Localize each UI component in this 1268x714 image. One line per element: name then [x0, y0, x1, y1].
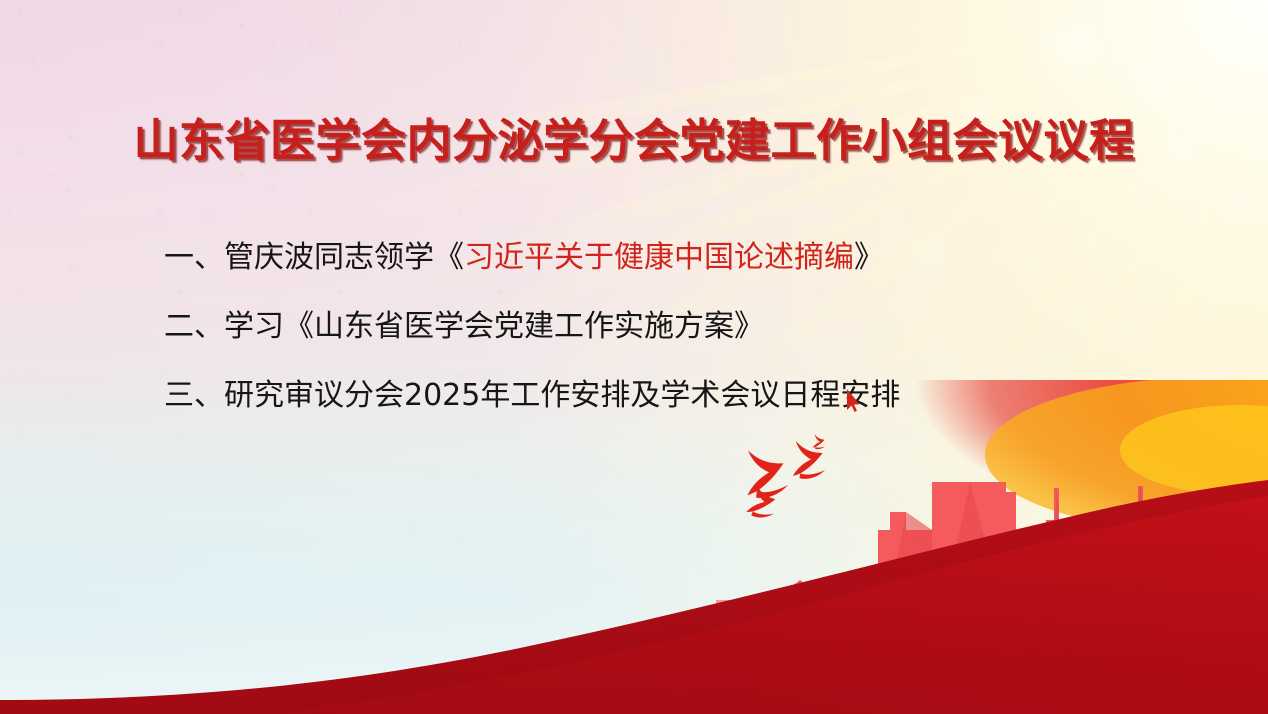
- dove-icon: [746, 483, 777, 519]
- dove-icon: [812, 434, 826, 450]
- slide-canvas: 山东省医学会内分泌学分会党建工作小组会议议程 一、管庆波同志领学《习近平关于健康…: [0, 0, 1268, 714]
- agenda-item-number: 二、: [164, 309, 224, 344]
- agenda-item-1: 一、管庆波同志领学《习近平关于健康中国论述摘编》: [164, 238, 1164, 278]
- bracket-open: 《: [434, 240, 464, 275]
- bokeh-circle: [1218, 190, 1258, 230]
- city-skyline: [700, 482, 1268, 660]
- hill-foreground-overlay: [250, 496, 1268, 714]
- agenda-item-highlight: 习近平关于健康中国论述摘编: [464, 240, 854, 275]
- agenda-item-number: 三、: [164, 378, 224, 413]
- page-title: 山东省医学会内分泌学分会党建工作小组会议议程: [0, 112, 1268, 170]
- bracket-open: 《: [284, 309, 314, 344]
- agenda-item-2: 二、学习《山东省医学会党建工作实施方案》: [164, 307, 1164, 347]
- bracket-close: 》: [734, 309, 764, 344]
- dove-icon: [738, 444, 789, 502]
- hill-foreground: [0, 480, 1268, 714]
- dove-icon: [788, 438, 826, 481]
- bracket-close: 》: [854, 240, 884, 275]
- agenda-item-text: 研究审议分会2025年工作安排及学术会议日程安排: [224, 378, 900, 413]
- agenda-item-3: 三、研究审议分会2025年工作安排及学术会议日程安排: [164, 376, 1164, 416]
- agenda-item-text: 管庆波同志领学: [224, 240, 434, 275]
- agenda-item-number: 一、: [164, 240, 224, 275]
- bokeh-circle: [1125, 48, 1183, 106]
- dove-flock: [738, 434, 826, 519]
- bokeh-circle: [1035, 10, 1109, 84]
- agenda-item-document-title: 山东省医学会党建工作实施方案: [314, 309, 734, 344]
- agenda-item-text: 学习: [224, 309, 284, 344]
- agenda-list: 一、管庆波同志领学《习近平关于健康中国论述摘编》 二、学习《山东省医学会党建工作…: [164, 238, 1164, 416]
